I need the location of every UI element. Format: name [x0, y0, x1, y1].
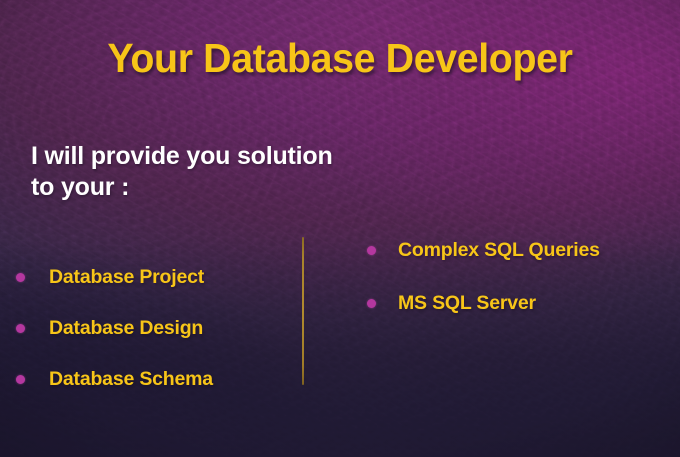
bullet-dot-icon: [16, 324, 25, 333]
list-item: Database Design: [16, 303, 213, 354]
service-list-right: Complex SQL Queries MS SQL Server: [367, 224, 600, 330]
list-item: Database Project: [16, 252, 213, 303]
slide-subtitle: I will provide you solution to your :: [31, 141, 333, 203]
service-list-left: Database Project Database Design Databas…: [16, 252, 213, 405]
slide-content: Your Database Developer I will provide y…: [0, 0, 680, 457]
service-label: Database Project: [49, 267, 204, 288]
service-label: Database Design: [49, 318, 203, 339]
bullet-dot-icon: [367, 299, 376, 308]
column-divider: [302, 237, 304, 385]
service-label: MS SQL Server: [398, 293, 536, 314]
service-label: Complex SQL Queries: [398, 240, 600, 261]
subtitle-line-2: to your :: [31, 172, 333, 203]
bullet-dot-icon: [367, 246, 376, 255]
bullet-dot-icon: [16, 273, 25, 282]
list-item: MS SQL Server: [367, 277, 600, 330]
list-item: Database Schema: [16, 354, 213, 405]
service-label: Database Schema: [49, 369, 213, 390]
subtitle-line-1: I will provide you solution: [31, 141, 333, 172]
promo-slide: Your Database Developer I will provide y…: [0, 0, 680, 457]
list-item: Complex SQL Queries: [367, 224, 600, 277]
bullet-dot-icon: [16, 375, 25, 384]
slide-title: Your Database Developer: [14, 36, 667, 80]
